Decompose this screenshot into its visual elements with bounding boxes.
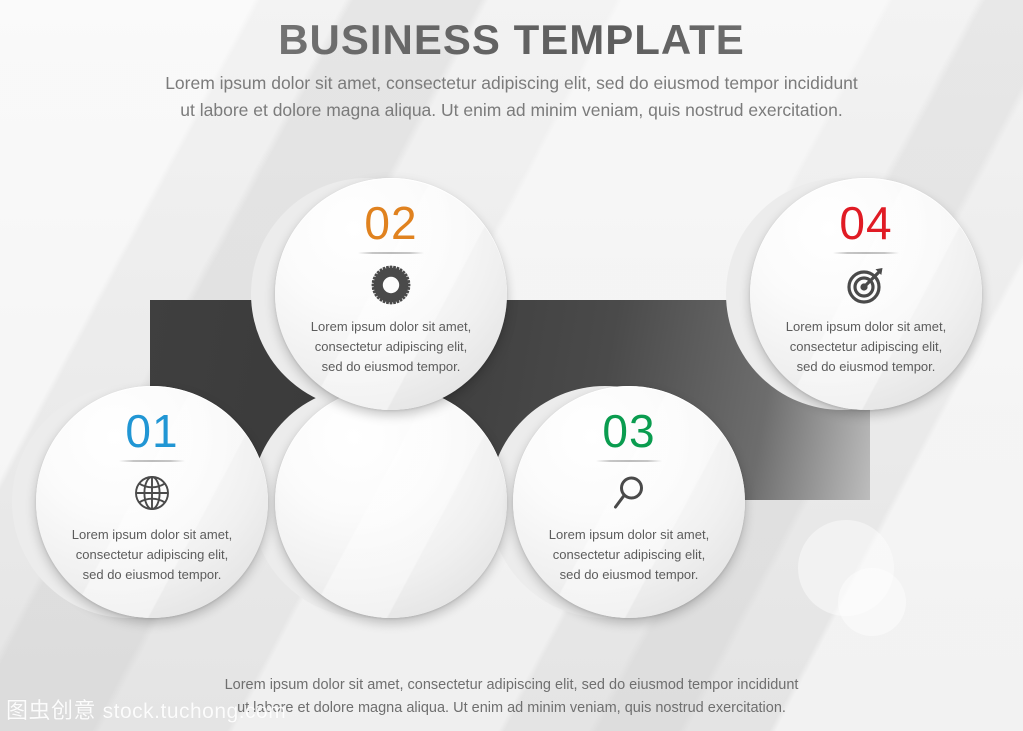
step-text-02: Lorem ipsum dolor sit amet, consectetur … — [298, 317, 484, 376]
step-text-line-1: Lorem ipsum dolor sit amet, — [773, 317, 959, 337]
step-text-line-2: consectetur adipiscing elit, — [536, 545, 722, 565]
step-text-line-1: Lorem ipsum dolor sit amet, — [59, 525, 245, 545]
gear-icon — [369, 263, 413, 307]
watermark-en: stock.tuchong.com — [103, 700, 287, 723]
target-icon — [844, 263, 888, 307]
filler-circle — [275, 386, 507, 618]
step-circle-03[interactable]: 03 Lorem ipsum dolor sit amet, consectet… — [513, 386, 745, 618]
step-text-line-2: consectetur adipiscing elit, — [773, 337, 959, 357]
page-subtitle: Lorem ipsum dolor sit amet, consectetur … — [62, 70, 962, 124]
step-number-03: 03 — [602, 408, 655, 454]
step-text-line-2: consectetur adipiscing elit, — [298, 337, 484, 357]
step-divider-04 — [833, 252, 899, 254]
step-number-01: 01 — [125, 408, 178, 454]
step-divider-01 — [119, 460, 185, 462]
step-text-line-3: sed do eiusmod tempor. — [773, 357, 959, 377]
step-number-02: 02 — [364, 200, 417, 246]
step-circle-04[interactable]: 04 Lorem ipsum dolor sit amet, co — [750, 178, 982, 410]
infographic-canvas: BUSINESS TEMPLATE Lorem ipsum dolor sit … — [0, 0, 1023, 731]
step-text-line-2: consectetur adipiscing elit, — [59, 545, 245, 565]
step-circle-02[interactable]: 02 — [275, 178, 507, 410]
step-text-04: Lorem ipsum dolor sit amet, consectetur … — [773, 317, 959, 376]
watermark-cn: 图虫创意 — [6, 698, 96, 723]
decorative-circle-small — [838, 568, 906, 636]
step-text-01: Lorem ipsum dolor sit amet, consectetur … — [59, 525, 245, 584]
subtitle-line-1: Lorem ipsum dolor sit amet, consectetur … — [62, 70, 962, 97]
step-number-04: 04 — [839, 200, 892, 246]
page-title: BUSINESS TEMPLATE — [0, 18, 1023, 62]
step-text-line-3: sed do eiusmod tempor. — [536, 565, 722, 585]
subtitle-line-2: ut labore et dolore magna aliqua. Ut eni… — [62, 97, 962, 124]
step-divider-02 — [358, 252, 424, 254]
header: BUSINESS TEMPLATE Lorem ipsum dolor sit … — [0, 18, 1023, 124]
step-text-line-1: Lorem ipsum dolor sit amet, — [298, 317, 484, 337]
magnifier-icon — [607, 471, 651, 515]
step-text-line-1: Lorem ipsum dolor sit amet, — [536, 525, 722, 545]
globe-icon — [130, 471, 174, 515]
step-circle-01[interactable]: 01 Lorem ipsum dolor sit amet, consectet… — [36, 386, 268, 618]
step-divider-03 — [596, 460, 662, 462]
step-text-03: Lorem ipsum dolor sit amet, consectetur … — [536, 525, 722, 584]
watermark: 图虫创意 stock.tuchong.com — [6, 693, 286, 725]
step-text-line-3: sed do eiusmod tempor. — [298, 357, 484, 377]
step-text-line-3: sed do eiusmod tempor. — [59, 565, 245, 585]
